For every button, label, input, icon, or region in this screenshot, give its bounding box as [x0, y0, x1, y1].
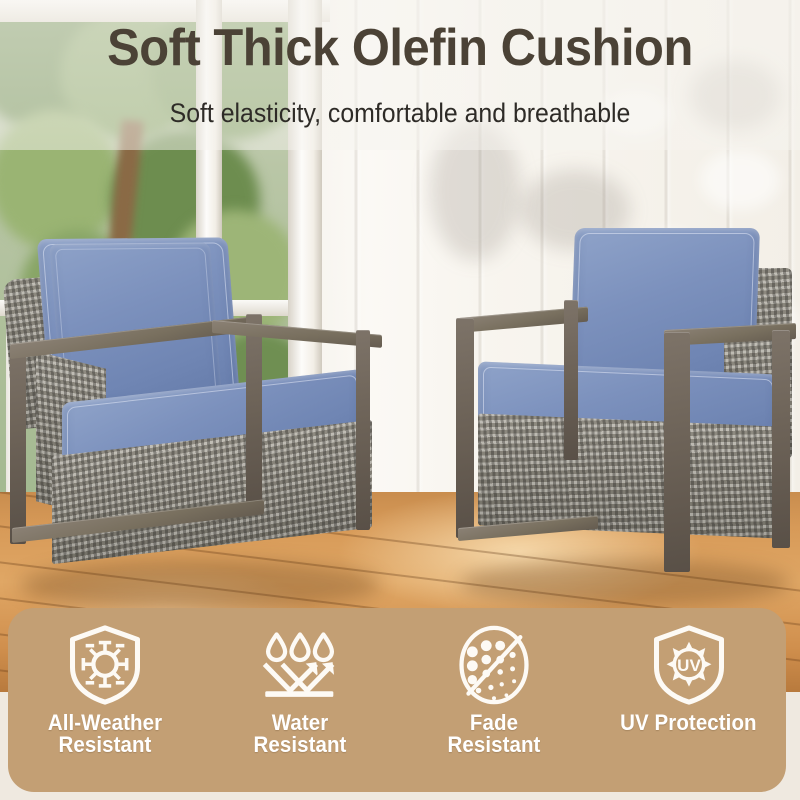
chair-shadow [460, 560, 790, 606]
feature-label: Fade Resistant [425, 712, 565, 757]
chair-frame-left-rear-leg [564, 300, 578, 460]
feature-fade-resistant: Fade Resistant [397, 608, 592, 792]
chair-base-wicker [478, 413, 778, 538]
feature-all-weather: All-Weather Resistant [8, 608, 203, 792]
product-feature-image: Soft Thick Olefin Cushion Soft elasticit… [0, 0, 800, 800]
uv-protection-shield-icon: UV [650, 624, 728, 706]
feature-water-resistant: Water Resistant [203, 608, 398, 792]
chair-frame-left-front-leg [456, 318, 474, 538]
water-resistant-droplets-icon [261, 624, 339, 706]
feature-label: All-Weather Resistant [36, 712, 176, 757]
feature-label: Water Resistant [230, 712, 370, 757]
feature-uv-protection: UV UV Protection [592, 608, 787, 792]
chair-frame-far-leg [356, 330, 370, 530]
chair-shadow [20, 560, 380, 610]
chair-frame-right-front-leg [664, 332, 690, 572]
light-dapple [700, 150, 780, 210]
chair-frame-front-leg [10, 344, 26, 544]
fade-resistant-dots-icon [455, 624, 533, 706]
all-weather-shield-icon [66, 624, 144, 706]
page-title: Soft Thick Olefin Cushion [24, 18, 776, 78]
feature-banner: All-Weather Resistant [8, 608, 786, 792]
chair-frame-right-rear-leg [772, 330, 790, 548]
page-subtitle: Soft elasticity, comfortable and breatha… [32, 98, 768, 129]
chair-frame-rear-leg [246, 314, 262, 514]
uv-badge-text: UV [677, 656, 701, 675]
feature-label: UV Protection [620, 712, 756, 734]
